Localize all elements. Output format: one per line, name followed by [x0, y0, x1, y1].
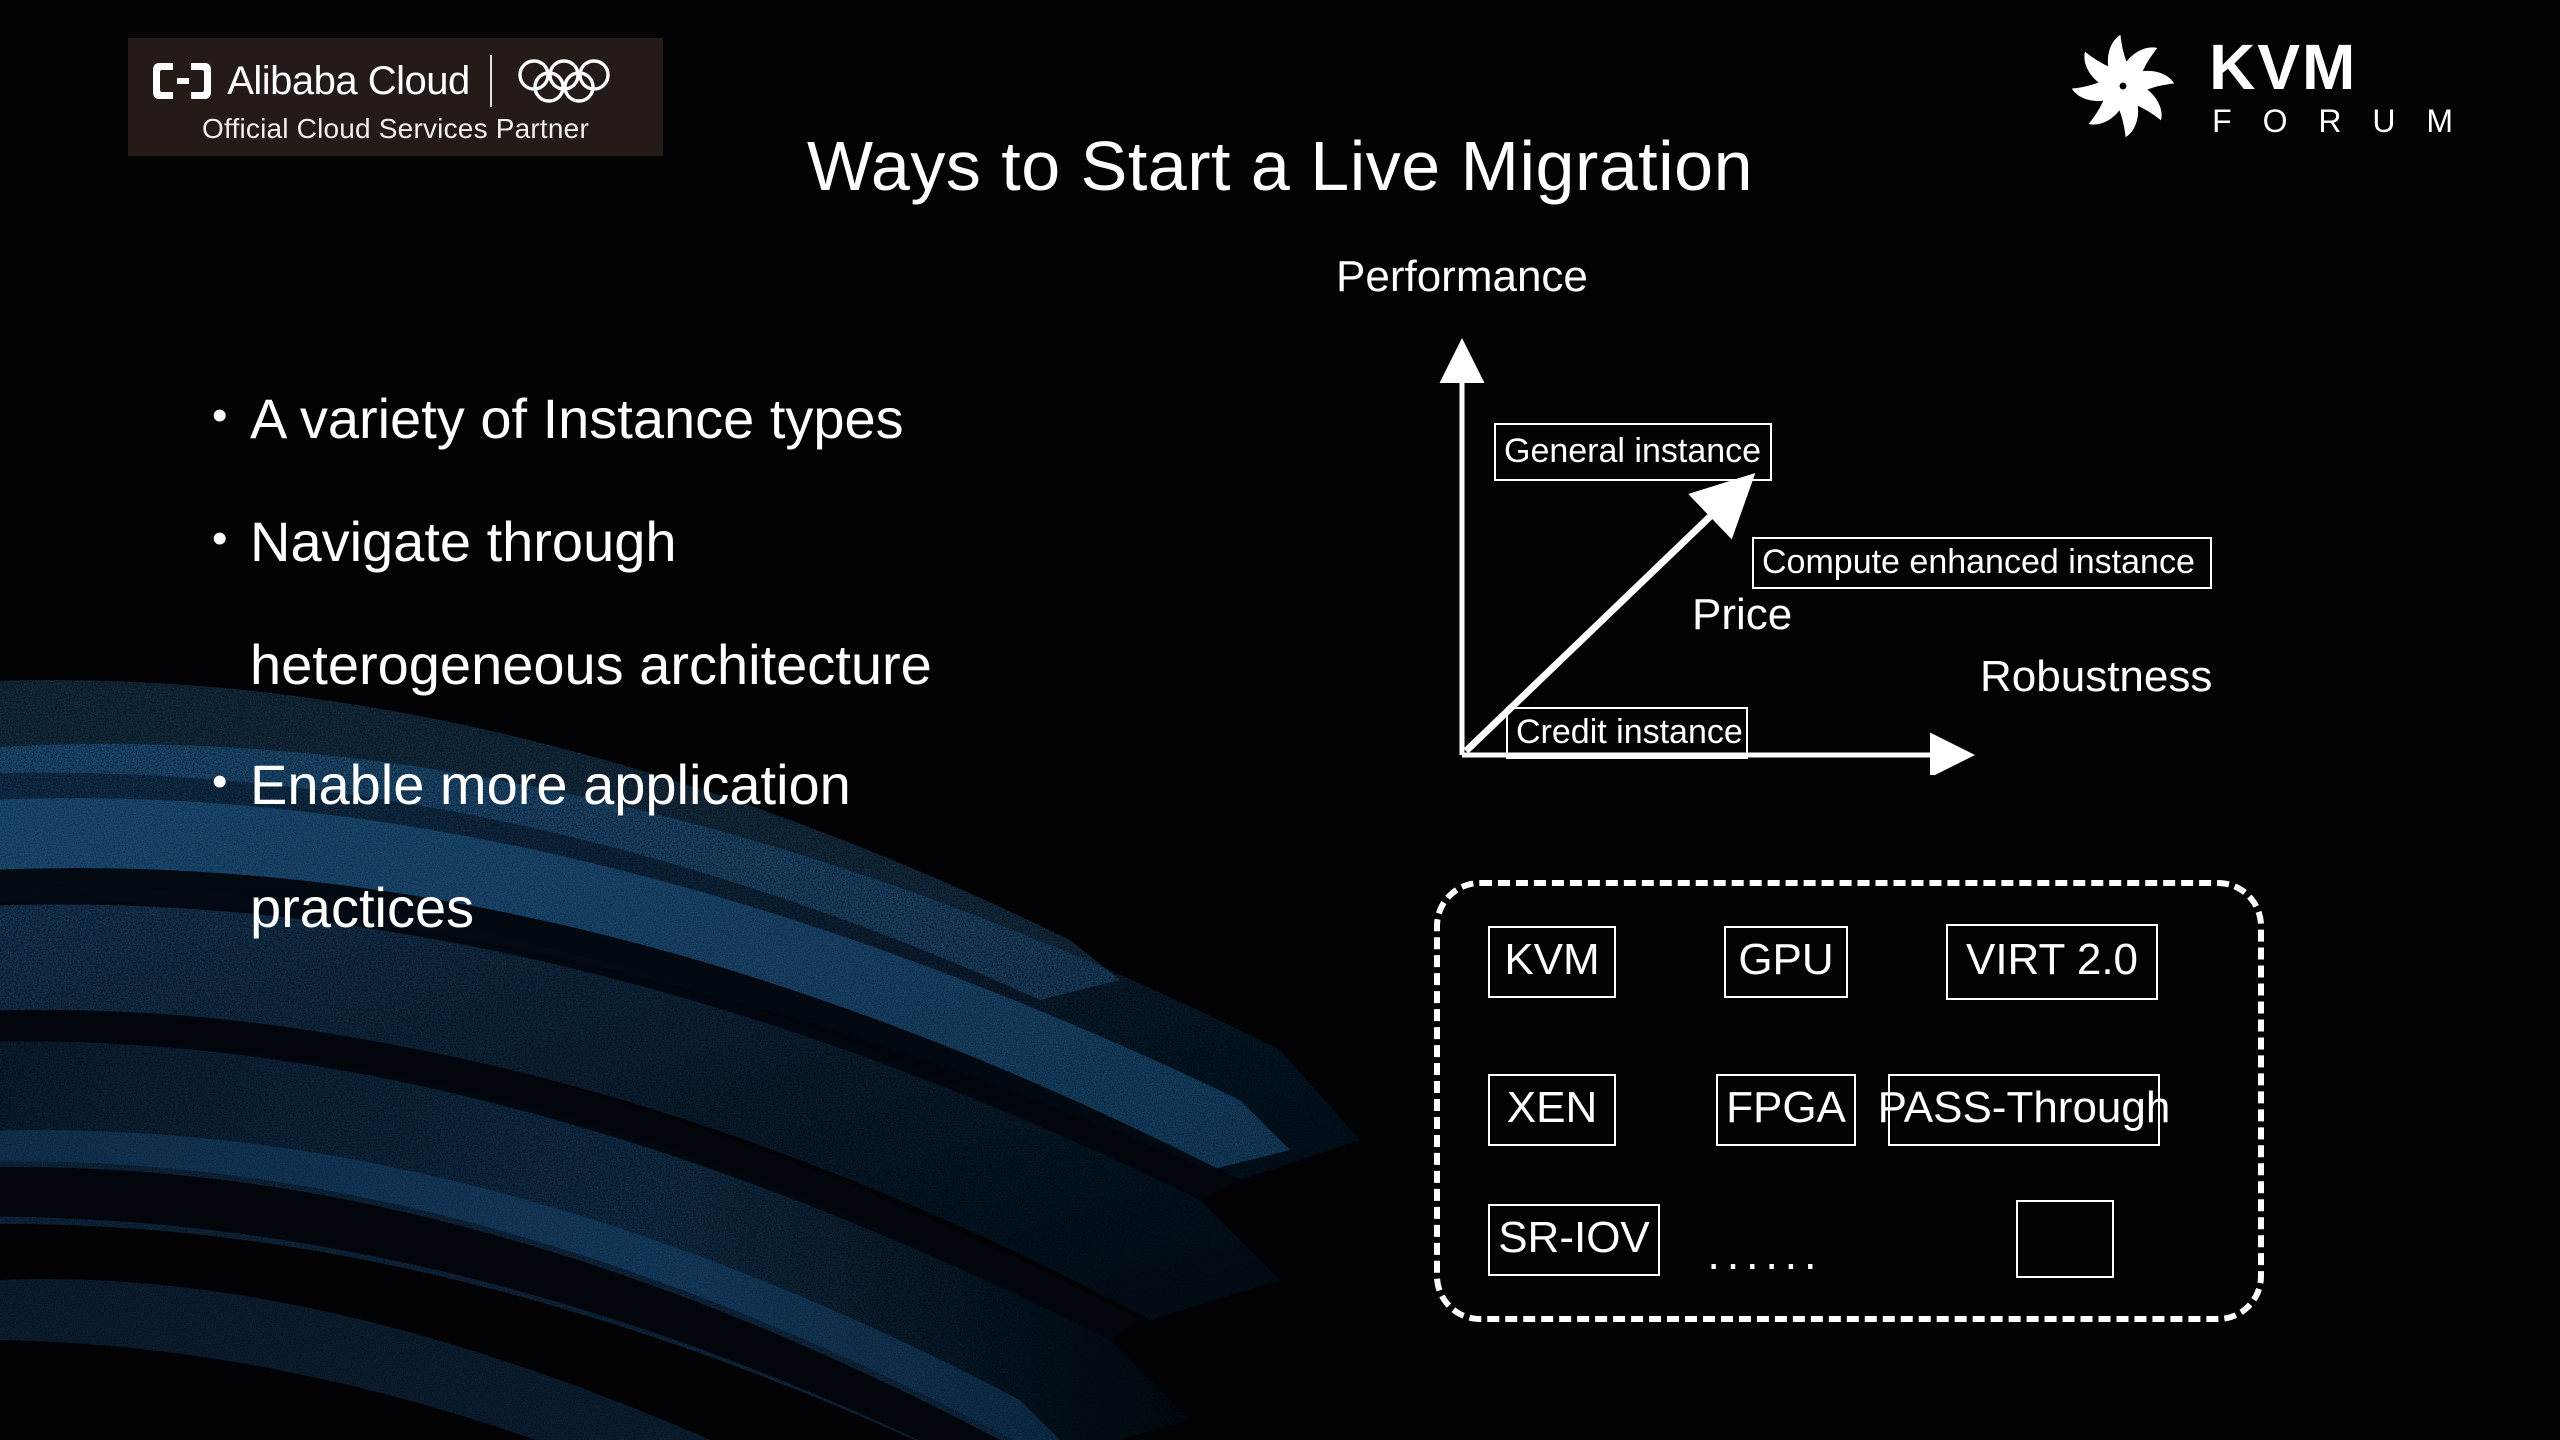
tech-tag-pass-through: PASS-Through — [1888, 1074, 2160, 1146]
tech-tag-kvm: KVM — [1488, 926, 1616, 998]
list-item: • Enable more application — [212, 756, 1272, 815]
list-item-label: practices — [250, 879, 1272, 938]
alibaba-cloud-bracket-icon — [151, 61, 213, 101]
list-item-label: Navigate through — [250, 513, 1272, 572]
list-item: • A variety of Instance types — [212, 390, 1272, 449]
tech-tag-xen: XEN — [1488, 1074, 1616, 1146]
diagonal-axis-label: Price — [1692, 593, 1792, 637]
partner-logo-row: Alibaba Cloud — [151, 50, 640, 112]
technology-row: SR-IOV ······ — [1440, 1196, 2258, 1284]
instance-positioning-chart: Performance Robustness Price General ins… — [1320, 255, 2480, 775]
tech-tag-gpu: GPU — [1724, 926, 1848, 998]
list-item-continuation: practices — [212, 879, 1272, 938]
technology-row: KVM GPU VIRT 2.0 — [1440, 918, 2258, 1006]
bullet-dot-icon: • — [212, 513, 250, 565]
list-item-label: A variety of Instance types — [250, 390, 1272, 449]
list-item-continuation: heterogeneous architecture — [212, 636, 1272, 695]
tech-tag-fpga: FPGA — [1716, 1074, 1856, 1146]
slide-canvas: Alibaba Cloud Official Cloud Services Pa… — [0, 0, 2560, 1440]
alibaba-cloud-wordmark: Alibaba Cloud — [227, 61, 470, 101]
bullet-list: • A variety of Instance types • Navigate… — [212, 390, 1272, 1000]
callout-credit-instance: Credit instance — [1506, 707, 1748, 759]
list-item-label: Enable more application — [250, 756, 1272, 815]
olympic-rings-icon — [512, 58, 640, 104]
page-title: Ways to Start a Live Migration — [0, 126, 2560, 206]
x-axis-label: Robustness — [1980, 655, 2212, 699]
tech-tag-sr-iov: SR-IOV — [1488, 1204, 1660, 1276]
tech-ellipsis-label: ······ — [1706, 1240, 1822, 1286]
tech-tag-empty-placeholder — [2016, 1200, 2114, 1278]
callout-general-instance: General instance — [1494, 423, 1772, 481]
bullet-dot-icon: • — [212, 390, 250, 442]
technology-panel: KVM GPU VIRT 2.0 XEN FPGA PASS-Through S… — [1434, 880, 2264, 1322]
kvm-forum-wordmark: KVM F O R U M — [2209, 35, 2464, 137]
list-item-label: heterogeneous architecture — [250, 636, 1272, 695]
list-item: • Navigate through — [212, 513, 1272, 572]
chart-axes — [1320, 255, 2480, 775]
callout-compute-enhanced-instance: Compute enhanced instance — [1752, 537, 2212, 589]
technology-row: XEN FPGA PASS-Through — [1440, 1066, 2258, 1154]
bullet-dot-icon: • — [212, 756, 250, 808]
tech-tag-virt-2-0: VIRT 2.0 — [1946, 924, 2158, 1000]
y-axis-label: Performance — [1336, 255, 1588, 299]
kvm-logo-title: KVM — [2209, 35, 2464, 99]
logo-divider — [490, 55, 492, 107]
